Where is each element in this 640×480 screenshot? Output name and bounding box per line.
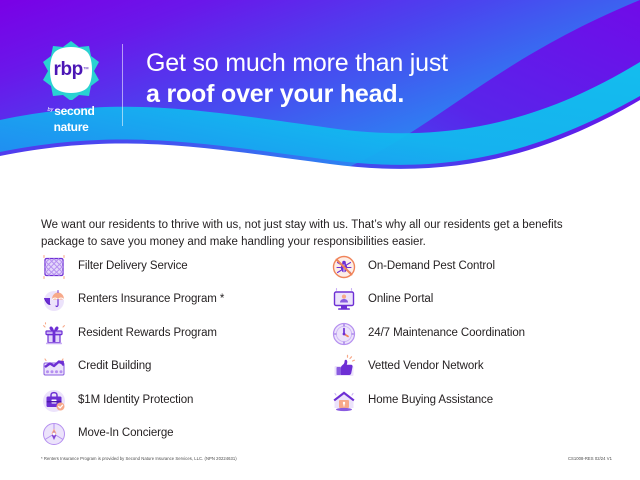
benefit-item-credit-building: Credit Building: [41, 351, 331, 385]
concierge-compass-icon: [41, 421, 67, 447]
intro-paragraph: We want our residents to thrive with us,…: [41, 217, 593, 252]
benefit-label: Online Portal: [368, 293, 433, 307]
logo-brand-line1: second: [54, 104, 94, 118]
rbp-wordmark: rbp™: [41, 40, 101, 100]
document-code: CS1008-RES 02/24 V1: [568, 456, 612, 461]
benefit-item-on-demand-pest-control: On-Demand Pest Control: [331, 250, 601, 284]
benefit-label: Renters Insurance Program *: [78, 293, 224, 307]
benefit-item-home-buying-assistance: Home Buying Assistance: [331, 384, 601, 418]
benefit-item-resident-rewards-program: Resident Rewards Program: [41, 317, 331, 351]
umbrella-icon: [41, 287, 67, 313]
clock-icon: [331, 321, 357, 347]
monitor-portal-icon: [331, 287, 357, 313]
house-key-icon: [331, 388, 357, 414]
benefit-label: Home Buying Assistance: [368, 394, 493, 408]
gift-icon: [41, 321, 67, 347]
benefit-item-vetted-vendor-network: Vetted Vendor Network: [331, 351, 601, 385]
benefit-label: $1M Identity Protection: [78, 394, 193, 408]
thumbs-up-icon: [331, 354, 357, 380]
header-divider: [122, 44, 123, 126]
no-pest-icon: [331, 254, 357, 280]
credit-chart-icon: [41, 354, 67, 380]
benefit-item-identity-protection: $1M Identity Protection: [41, 384, 331, 418]
benefits-column-right: On-Demand Pest Control Online Portal: [331, 250, 601, 451]
benefits-flyer: rbp™ bysecond nature Get so much more th…: [0, 0, 640, 480]
header-banner: rbp™ bysecond nature Get so much more th…: [0, 0, 640, 185]
headline: Get so much more than just a roof over y…: [146, 48, 616, 110]
benefit-label: Move-In Concierge: [78, 427, 173, 441]
benefit-item-maintenance-coordination: 24/7 Maintenance Coordination: [331, 317, 601, 351]
footnote-disclaimer: * Renters Insurance Program is provided …: [41, 456, 237, 461]
rbp-logo-badge: rbp™: [41, 40, 101, 100]
benefit-item-online-portal: Online Portal: [331, 284, 601, 318]
benefit-label: Vetted Vendor Network: [368, 360, 484, 374]
rbp-logo: rbp™ bysecond nature: [32, 40, 110, 128]
second-nature-lockup: bysecond nature: [32, 103, 110, 136]
benefit-item-renters-insurance-program: Renters Insurance Program *: [41, 284, 331, 318]
briefcase-lock-icon: [41, 388, 67, 414]
rbp-trademark: ™: [83, 67, 89, 73]
headline-line-1: Get so much more than just: [146, 48, 616, 79]
benefit-label: 24/7 Maintenance Coordination: [368, 327, 525, 341]
benefits-column-left: Filter Delivery Service Renters Insuranc…: [41, 250, 331, 451]
logo-by-text: by: [47, 108, 53, 114]
benefit-item-move-in-concierge: Move-In Concierge: [41, 418, 331, 452]
benefit-label: On-Demand Pest Control: [368, 260, 495, 274]
benefit-label: Filter Delivery Service: [78, 260, 188, 274]
benefit-label: Credit Building: [78, 360, 151, 374]
benefits-list: Filter Delivery Service Renters Insuranc…: [41, 250, 601, 451]
benefit-item-filter-delivery-service: Filter Delivery Service: [41, 250, 331, 284]
rbp-wordmark-text: rbp: [53, 59, 82, 81]
benefit-label: Resident Rewards Program: [78, 327, 217, 341]
air-filter-icon: [41, 254, 67, 280]
headline-line-2: a roof over your head.: [146, 79, 616, 110]
logo-brand-line2: nature: [54, 120, 89, 134]
